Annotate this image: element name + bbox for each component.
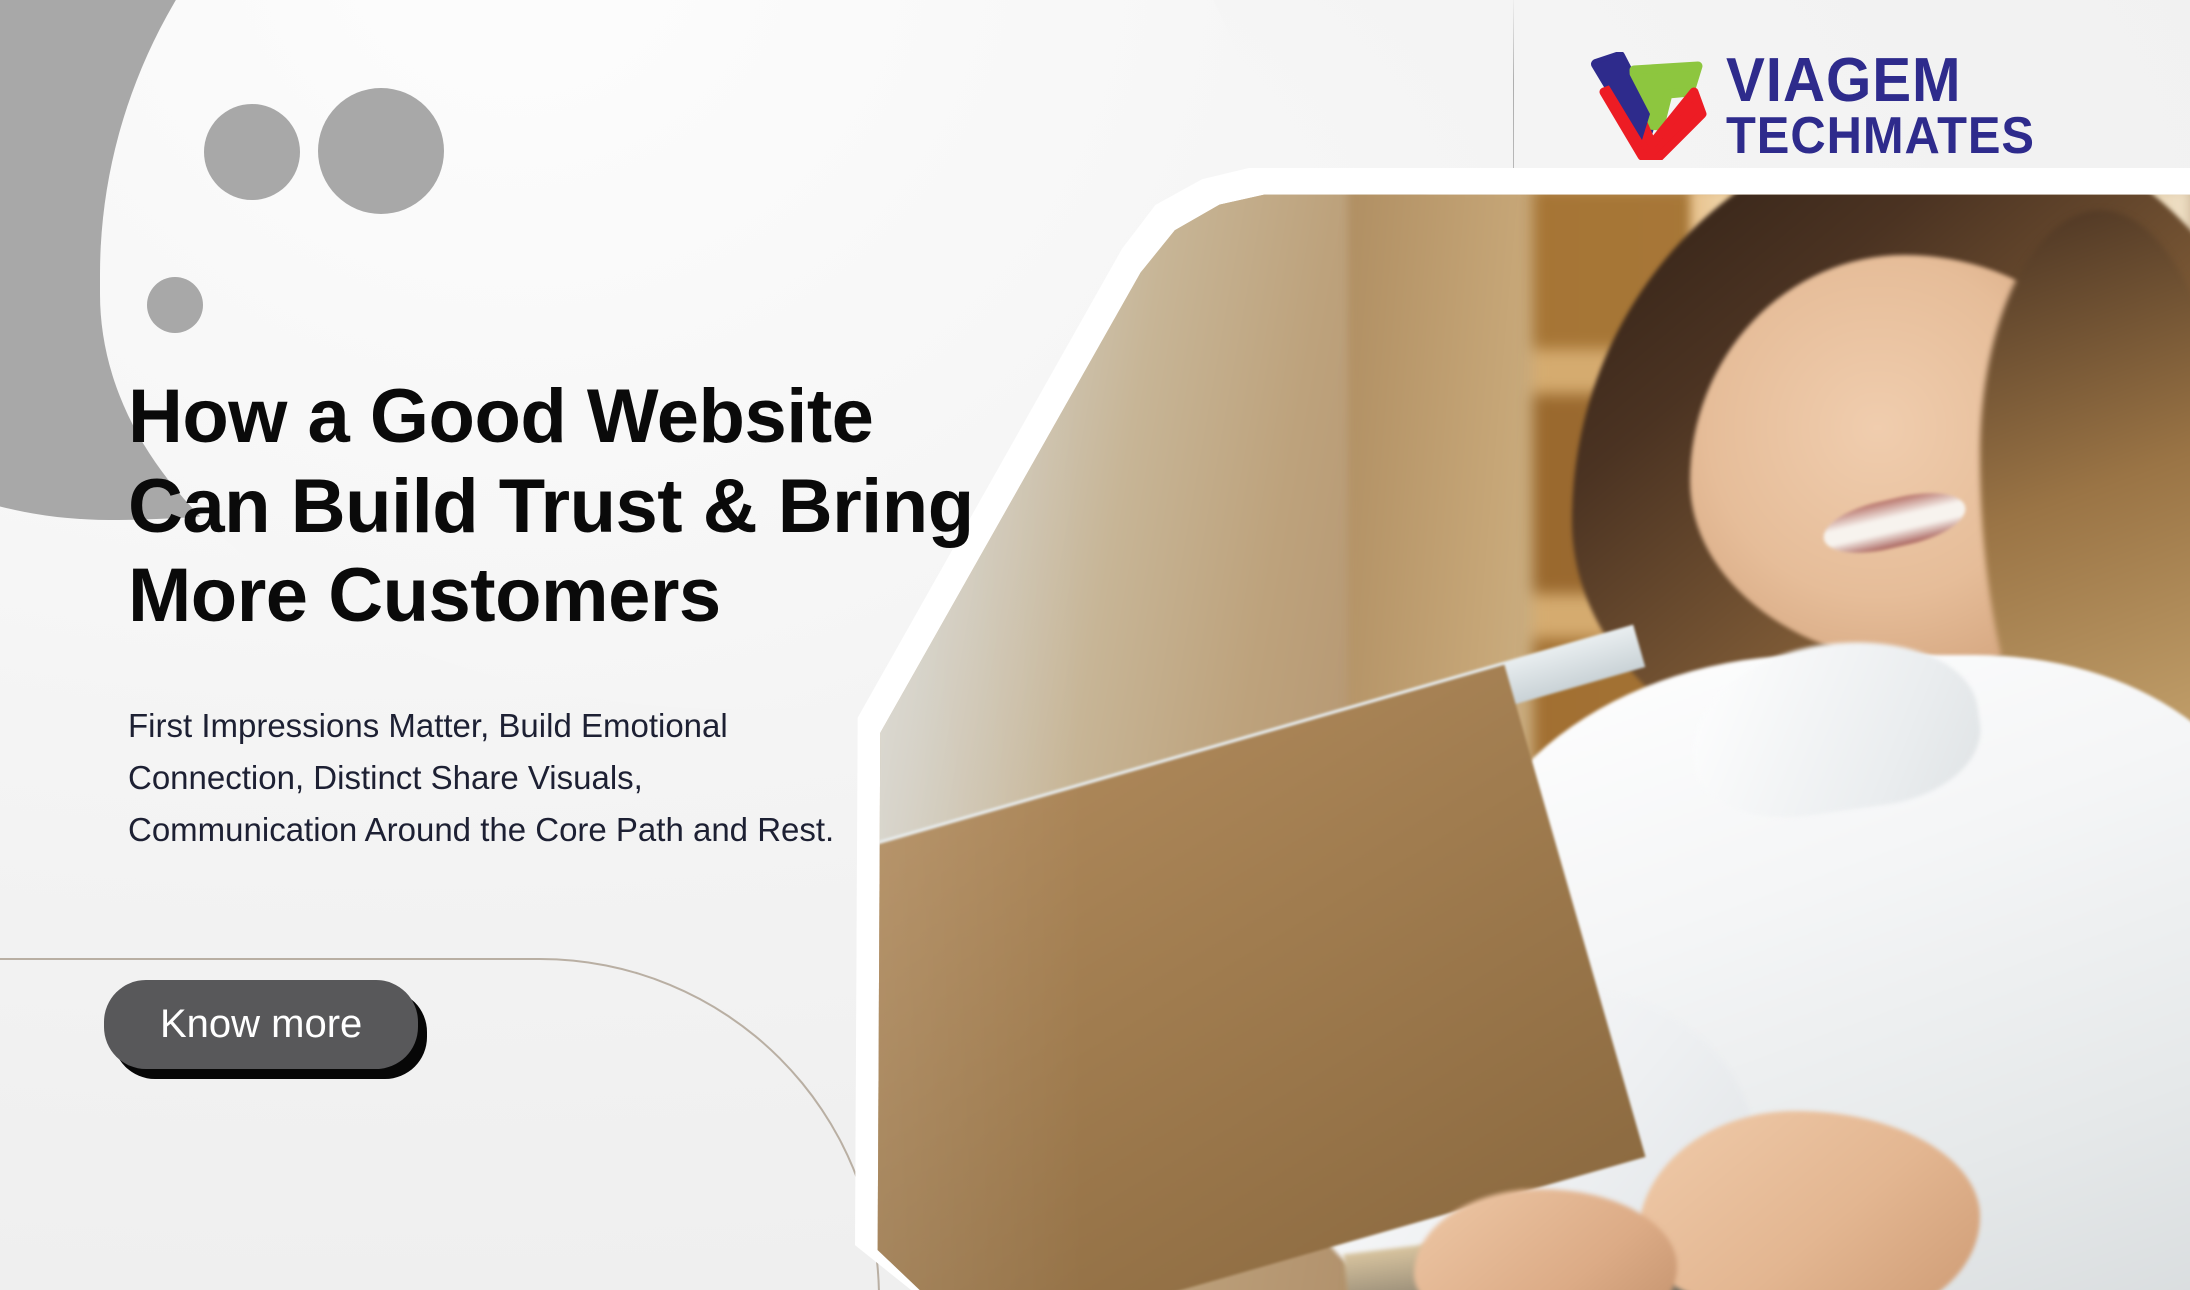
decor-dot-large — [318, 88, 444, 214]
viagem-techmates-vt-monogram-icon — [1590, 52, 1708, 160]
brand-name-secondary: TECHMATES — [1726, 113, 2035, 161]
brand-name-primary: VIAGEM — [1726, 52, 2035, 109]
hero-headline: How a Good Website Can Build Trust & Bri… — [128, 372, 988, 641]
know-more-button[interactable]: Know more — [104, 980, 418, 1069]
decor-dot-small — [147, 277, 203, 333]
decor-dot-medium — [204, 104, 300, 200]
hero-subtext: First Impressions Matter, Build Emotiona… — [128, 700, 848, 856]
brand-wordmark: VIAGEM TECHMATES — [1726, 52, 2055, 161]
marketing-banner: VIAGEM TECHMATES How a Good Website Can … — [0, 0, 2190, 1290]
brand-logo[interactable]: VIAGEM TECHMATES — [1590, 52, 2055, 161]
photo-vignette — [875, 188, 2190, 1290]
hero-photo — [875, 188, 2190, 1290]
photo-scene — [875, 188, 2190, 1290]
